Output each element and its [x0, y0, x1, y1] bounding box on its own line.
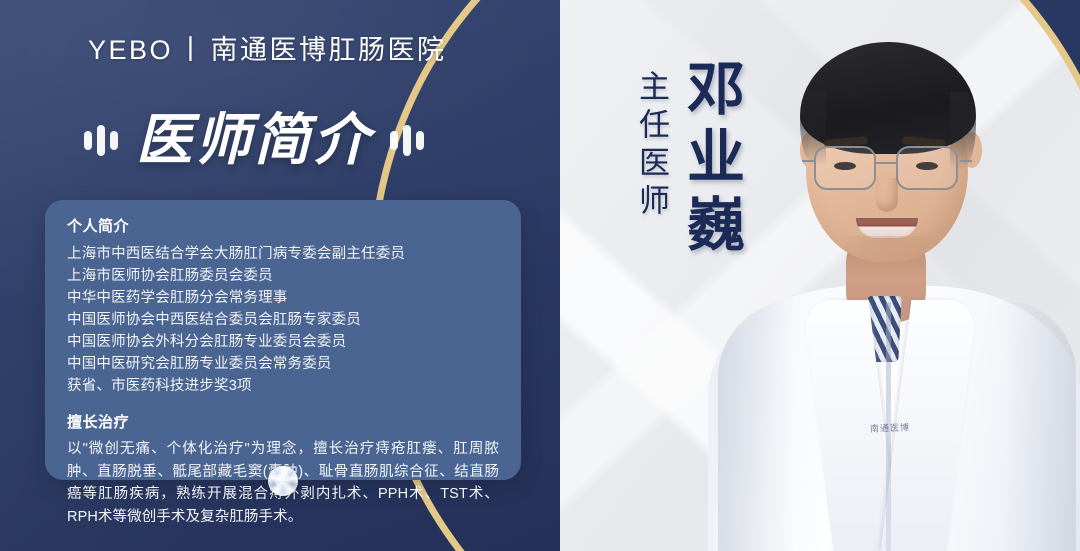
- doctor-portrait: 南通医博: [700, 0, 1080, 551]
- brand-separator: 丨: [173, 35, 211, 65]
- ornament-bars-left: [84, 120, 118, 160]
- list-item: 中国中医研究会肛肠专业委员会常务委员: [67, 353, 499, 375]
- chin-shadow: [840, 236, 936, 262]
- glasses-temple-right: [960, 160, 972, 162]
- doctor-info-card: 个人简介 上海市中西医结合学会大肠肛门病专委会副主任委员 上海市医师协会肛肠委员…: [45, 200, 521, 480]
- doctor-name: 邓业巍: [681, 58, 739, 262]
- specialty-heading: 擅长治疗: [67, 412, 499, 435]
- diamond-ornament-icon: [268, 466, 298, 496]
- page-title-row: 医师简介: [84, 112, 424, 168]
- hospital-brand: YEBO丨南通医博肛肠医院: [88, 28, 447, 67]
- poster-canvas: 南通医博 邓业巍 主任医师 YEBO丨南通医博肛肠医院 医师简介: [0, 0, 1080, 551]
- lens-right: [896, 146, 958, 190]
- coat-embroidery-area: 南通医博: [700, 300, 1080, 440]
- nose: [876, 178, 898, 212]
- list-item: 上海市中西医结合学会大肠肛门病专委会副主任委员: [67, 243, 499, 265]
- page-title: 医师简介: [136, 112, 372, 168]
- list-item: 中国医师协会中西医结合委员会肛肠专家委员: [67, 309, 499, 331]
- doctor-title: 主任医师: [636, 70, 667, 222]
- profile-heading: 个人简介: [67, 216, 499, 239]
- list-item: 获省、市医药科技进步奖3项: [67, 375, 499, 397]
- coat-embroidery-text: 南通医博: [870, 420, 910, 434]
- lens-left: [814, 146, 876, 190]
- glasses-temple-left: [802, 160, 814, 162]
- list-item: 中华中医药学会肛肠分会常务理事: [67, 287, 499, 309]
- credentials-list: 上海市中西医结合学会大肠肛门病专委会副主任委员 上海市医师协会肛肠委员会委员 中…: [67, 243, 499, 397]
- brand-latin: YEBO: [88, 35, 173, 65]
- doctor-name-block: 邓业巍 主任医师: [636, 58, 739, 262]
- brand-chinese: 南通医博肛肠医院: [211, 35, 447, 65]
- glasses-bridge: [876, 162, 896, 164]
- list-item: 上海市医师协会肛肠委员会委员: [67, 265, 499, 287]
- profile-section: 个人简介 上海市中西医结合学会大肠肛门病专委会副主任委员 上海市医师协会肛肠委员…: [67, 216, 499, 397]
- list-item: 中国医师协会外科分会肛肠专业委员会委员: [67, 331, 499, 353]
- ornament-bars-right: [390, 120, 424, 160]
